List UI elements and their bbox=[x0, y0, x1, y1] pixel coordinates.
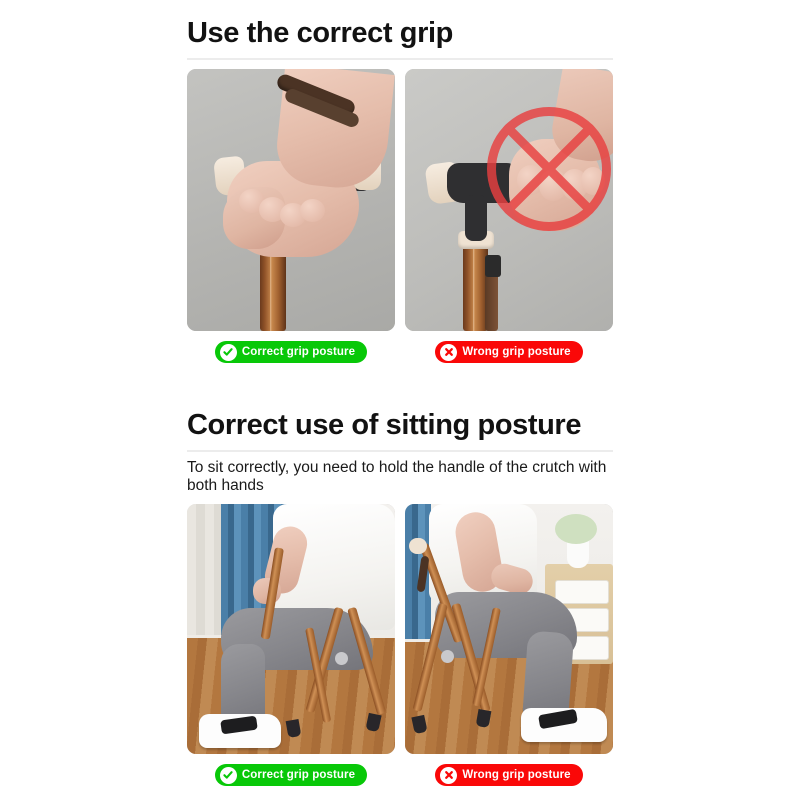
badge-wrong-sitting: Wrong grip posture bbox=[435, 764, 582, 786]
infographic-page: Use the correct grip bbox=[0, 0, 800, 800]
photo-row-sitting: Correct grip posture bbox=[187, 504, 613, 786]
photo-wrong-grip bbox=[405, 69, 613, 331]
badge-wrong-grip: Wrong grip posture bbox=[435, 341, 582, 363]
photo-row-grip: Correct grip posture bbox=[187, 69, 613, 363]
section-heading-sitting: Correct use of sitting posture bbox=[187, 392, 613, 448]
cross-circle-icon bbox=[440, 767, 457, 784]
section-use-the-correct-grip: Use the correct grip bbox=[0, 0, 800, 363]
photo-wrong-sitting bbox=[405, 504, 613, 754]
cross-circle-icon bbox=[440, 344, 457, 361]
photo-correct-sitting bbox=[187, 504, 395, 754]
badge-label: Correct grip posture bbox=[242, 769, 355, 781]
check-circle-icon bbox=[220, 344, 237, 361]
badge-label: Wrong grip posture bbox=[462, 769, 570, 781]
photo-col-correct-sitting: Correct grip posture bbox=[187, 504, 395, 786]
photo-col-correct-grip: Correct grip posture bbox=[187, 69, 395, 363]
photo-col-wrong-sitting: Wrong grip posture bbox=[405, 504, 613, 786]
badge-correct-grip: Correct grip posture bbox=[215, 341, 367, 363]
photo-col-wrong-grip: Wrong grip posture bbox=[405, 69, 613, 363]
stool-tip-1 bbox=[286, 719, 302, 738]
badge-correct-sitting: Correct grip posture bbox=[215, 764, 367, 786]
section-correct-use-of-sitting-posture: Correct use of sitting posture To sit co… bbox=[0, 392, 800, 786]
check-circle-icon bbox=[220, 767, 237, 784]
shaft-highlight bbox=[473, 245, 476, 331]
section-subtext-sitting: To sit correctly, you need to hold the h… bbox=[187, 452, 613, 495]
handle-stem bbox=[465, 195, 487, 241]
cane-joint bbox=[485, 255, 501, 277]
cane-handle-cap bbox=[409, 538, 427, 554]
section-heading-grip: Use the correct grip bbox=[187, 0, 613, 56]
badge-label: Correct grip posture bbox=[242, 346, 355, 358]
badge-label: Wrong grip posture bbox=[462, 346, 570, 358]
photo-correct-grip bbox=[187, 69, 395, 331]
heading-divider bbox=[187, 58, 613, 60]
stool-pivot bbox=[335, 652, 348, 665]
cabinet-drawer-1 bbox=[555, 580, 609, 604]
knuckle-4 bbox=[300, 199, 325, 222]
stool-pivot bbox=[441, 650, 454, 663]
prohibition-sign-icon bbox=[487, 107, 611, 231]
plant-foliage bbox=[555, 514, 597, 544]
